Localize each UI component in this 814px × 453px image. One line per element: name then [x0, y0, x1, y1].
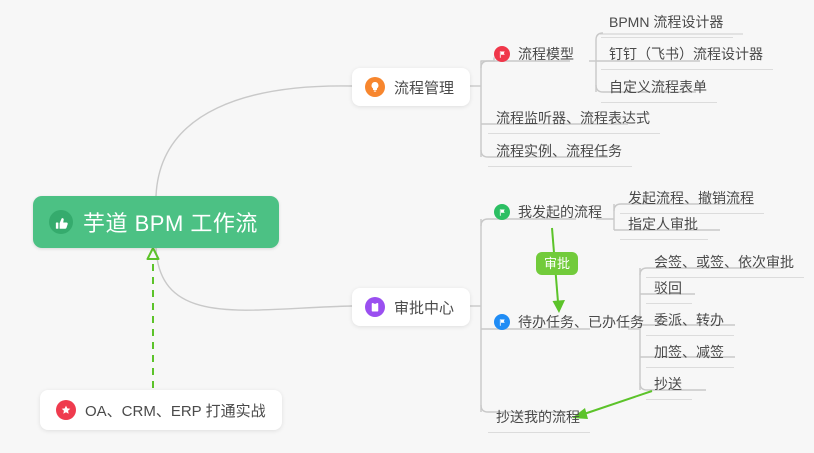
flag-icon	[494, 46, 510, 62]
leaf-custom-form[interactable]: 自定义流程表单	[601, 75, 717, 103]
leaf-listener-expression[interactable]: 流程监听器、流程表达式	[488, 106, 660, 134]
star-icon	[56, 400, 76, 420]
flag-icon	[494, 204, 510, 220]
leaf-start-cancel-process[interactable]: 发起流程、撤销流程	[620, 186, 764, 214]
leaf-add-remove-sign[interactable]: 加签、减签	[646, 340, 734, 368]
leaf-countersign[interactable]: 会签、或签、依次审批	[646, 250, 804, 278]
node-label-process-model: 流程模型	[518, 44, 574, 64]
branch-label-approval-center: 审批中心	[394, 297, 454, 318]
leaf-cc[interactable]: 抄送	[646, 372, 692, 400]
leaf-cc-my-process[interactable]: 抄送我的流程	[488, 405, 590, 433]
node-label-todo-done-tasks: 待办任务、已办任务	[518, 312, 644, 332]
lightbulb-icon	[365, 77, 385, 97]
leaf-instance-task[interactable]: 流程实例、流程任务	[488, 139, 632, 167]
approval-badge[interactable]: 审批	[536, 252, 578, 275]
dashed-arrow-integration-to-root	[148, 248, 159, 388]
leaf-dingtalk-designer[interactable]: 钉钉（飞书）流程设计器	[601, 42, 773, 70]
floating-node-integration[interactable]: OA、CRM、ERP 打通实战	[40, 390, 282, 430]
leaf-assignee-approval[interactable]: 指定人审批	[620, 212, 708, 240]
leaf-bpmn-designer[interactable]: BPMN 流程设计器	[601, 10, 733, 38]
node-process-model[interactable]: 流程模型	[494, 43, 574, 65]
link-root-to-approval-center	[156, 248, 352, 310]
flag-icon	[494, 314, 510, 330]
leaf-delegate-transfer[interactable]: 委派、转办	[646, 308, 734, 336]
mindmap-canvas: 芋道 BPM 工作流 流程管理 审批中心 OA、CRM、ERP 打通实战	[0, 0, 814, 453]
leaf-reject[interactable]: 驳回	[646, 276, 692, 304]
node-label-my-started: 我发起的流程	[518, 202, 602, 222]
floating-label-integration: OA、CRM、ERP 打通实战	[85, 400, 266, 421]
branch-node-process-management[interactable]: 流程管理	[352, 68, 470, 106]
node-todo-done-tasks[interactable]: 待办任务、已办任务	[494, 311, 644, 333]
clipboard-icon	[365, 297, 385, 317]
branch-node-approval-center[interactable]: 审批中心	[352, 288, 470, 326]
branch-label-process-management: 流程管理	[394, 77, 454, 98]
node-my-started[interactable]: 我发起的流程	[494, 201, 602, 223]
root-node[interactable]: 芋道 BPM 工作流	[33, 196, 279, 248]
thumbs-up-icon	[49, 210, 73, 234]
link-root-to-process-management	[156, 86, 352, 196]
root-label: 芋道 BPM 工作流	[83, 206, 258, 238]
